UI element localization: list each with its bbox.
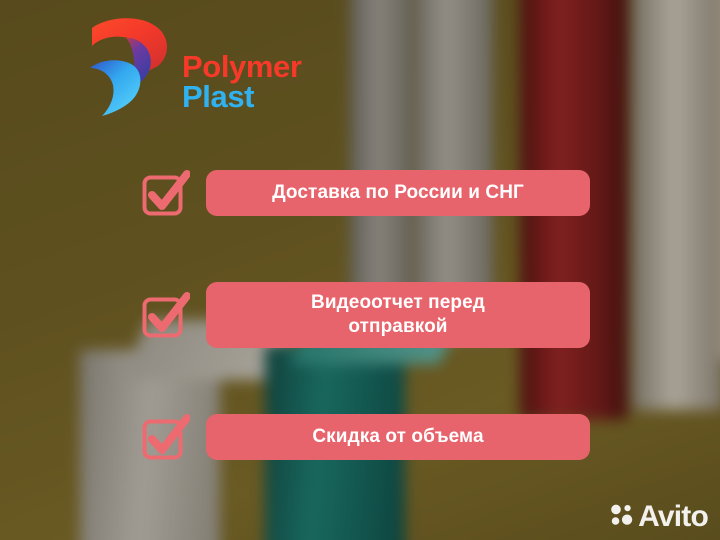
- feature-item-volume-discount: Скидка от объема: [140, 412, 590, 462]
- feature-list: Доставка по России и СНГ Видеоотчет пере…: [140, 168, 590, 462]
- feature-badge[interactable]: Видеоотчет перед отправкой: [206, 282, 590, 348]
- polymer-plast-ribbon-logo: [86, 14, 178, 118]
- checkbox-checked-icon: [140, 412, 190, 462]
- feature-item-delivery: Доставка по России и СНГ: [140, 168, 590, 218]
- brand-logo: Polymer Plast: [86, 14, 346, 126]
- promo-image: Polymer Plast Доставка по России и СНГ: [0, 0, 720, 540]
- checkbox-checked-icon: [140, 290, 190, 340]
- avito-watermark: Avito: [610, 502, 708, 532]
- feature-label: Скидка от объема: [312, 425, 483, 449]
- feature-label: Видеоотчет перед отправкой: [311, 291, 485, 339]
- feature-item-video-report: Видеоотчет перед отправкой: [140, 282, 590, 348]
- feature-badge[interactable]: Скидка от объема: [206, 414, 590, 460]
- brand-name-line2: Plast: [182, 82, 302, 112]
- avito-dots-icon: [610, 503, 634, 532]
- brand-name-line1: Polymer: [182, 52, 302, 82]
- brand-wordmark: Polymer Plast: [182, 52, 302, 113]
- checkbox-checked-icon: [140, 168, 190, 218]
- feature-label: Доставка по России и СНГ: [272, 181, 524, 205]
- avito-wordmark: Avito: [638, 502, 708, 532]
- feature-badge[interactable]: Доставка по России и СНГ: [206, 170, 590, 216]
